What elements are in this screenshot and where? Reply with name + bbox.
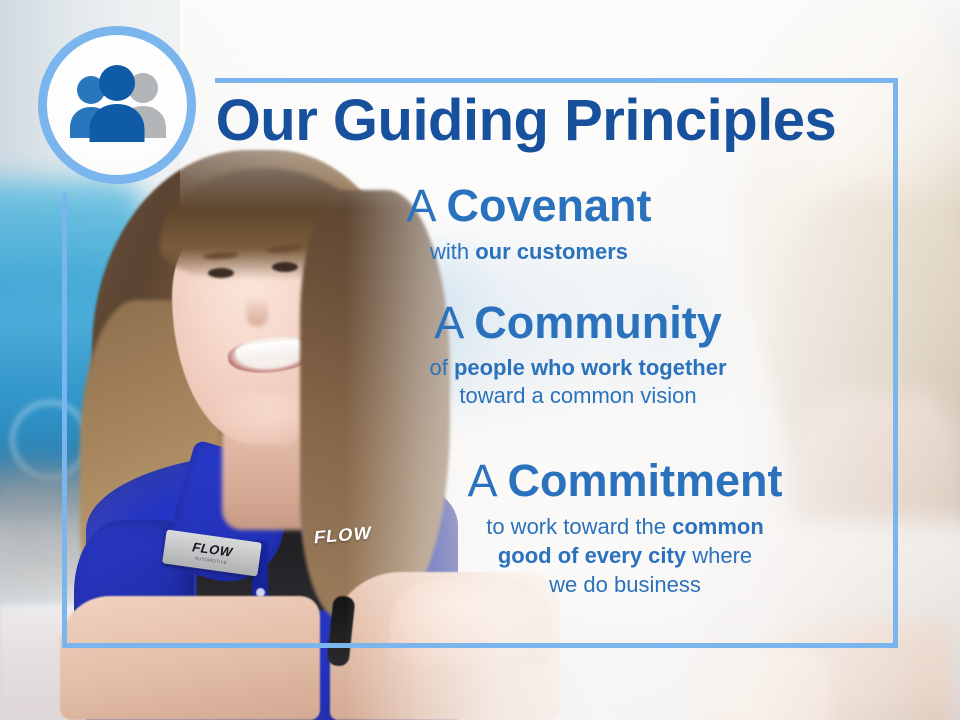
principle-subtext-line: to work toward the common <box>290 512 960 541</box>
principle-keyword: Commitment <box>508 455 783 506</box>
principle-keyword: Covenant <box>447 180 652 231</box>
banner-canvas: FLOW FLOW AUTOMOTIVE Ou <box>0 0 960 720</box>
principle-subtext-line: good of every city where <box>290 541 960 570</box>
principle-article: A <box>467 455 507 506</box>
principle-subtext: of people who work togethertoward a comm… <box>196 354 960 411</box>
principle-community: A Community of people who work togethert… <box>0 300 960 411</box>
principle-heading: A Covenant <box>98 183 960 230</box>
principle-subtext-line: we do business <box>290 570 960 599</box>
principle-article: A <box>434 297 474 348</box>
principle-keyword: Community <box>474 297 722 348</box>
principle-article: A <box>406 180 446 231</box>
page-title: Our Guiding Principles <box>0 92 960 150</box>
principle-subtext-line: toward a common vision <box>196 382 960 411</box>
principle-heading: A Community <box>196 300 960 347</box>
principle-covenant: A Covenant with our customers <box>0 183 960 266</box>
principle-heading: A Commitment <box>290 458 960 505</box>
principle-subtext: to work toward the commongood of every c… <box>290 512 960 599</box>
principle-subtext: with our customers <box>98 237 960 266</box>
principle-subtext-line: with our customers <box>98 237 960 266</box>
principle-subtext-line: of people who work together <box>196 354 960 383</box>
principle-commitment: A Commitment to work toward the commongo… <box>0 458 960 599</box>
